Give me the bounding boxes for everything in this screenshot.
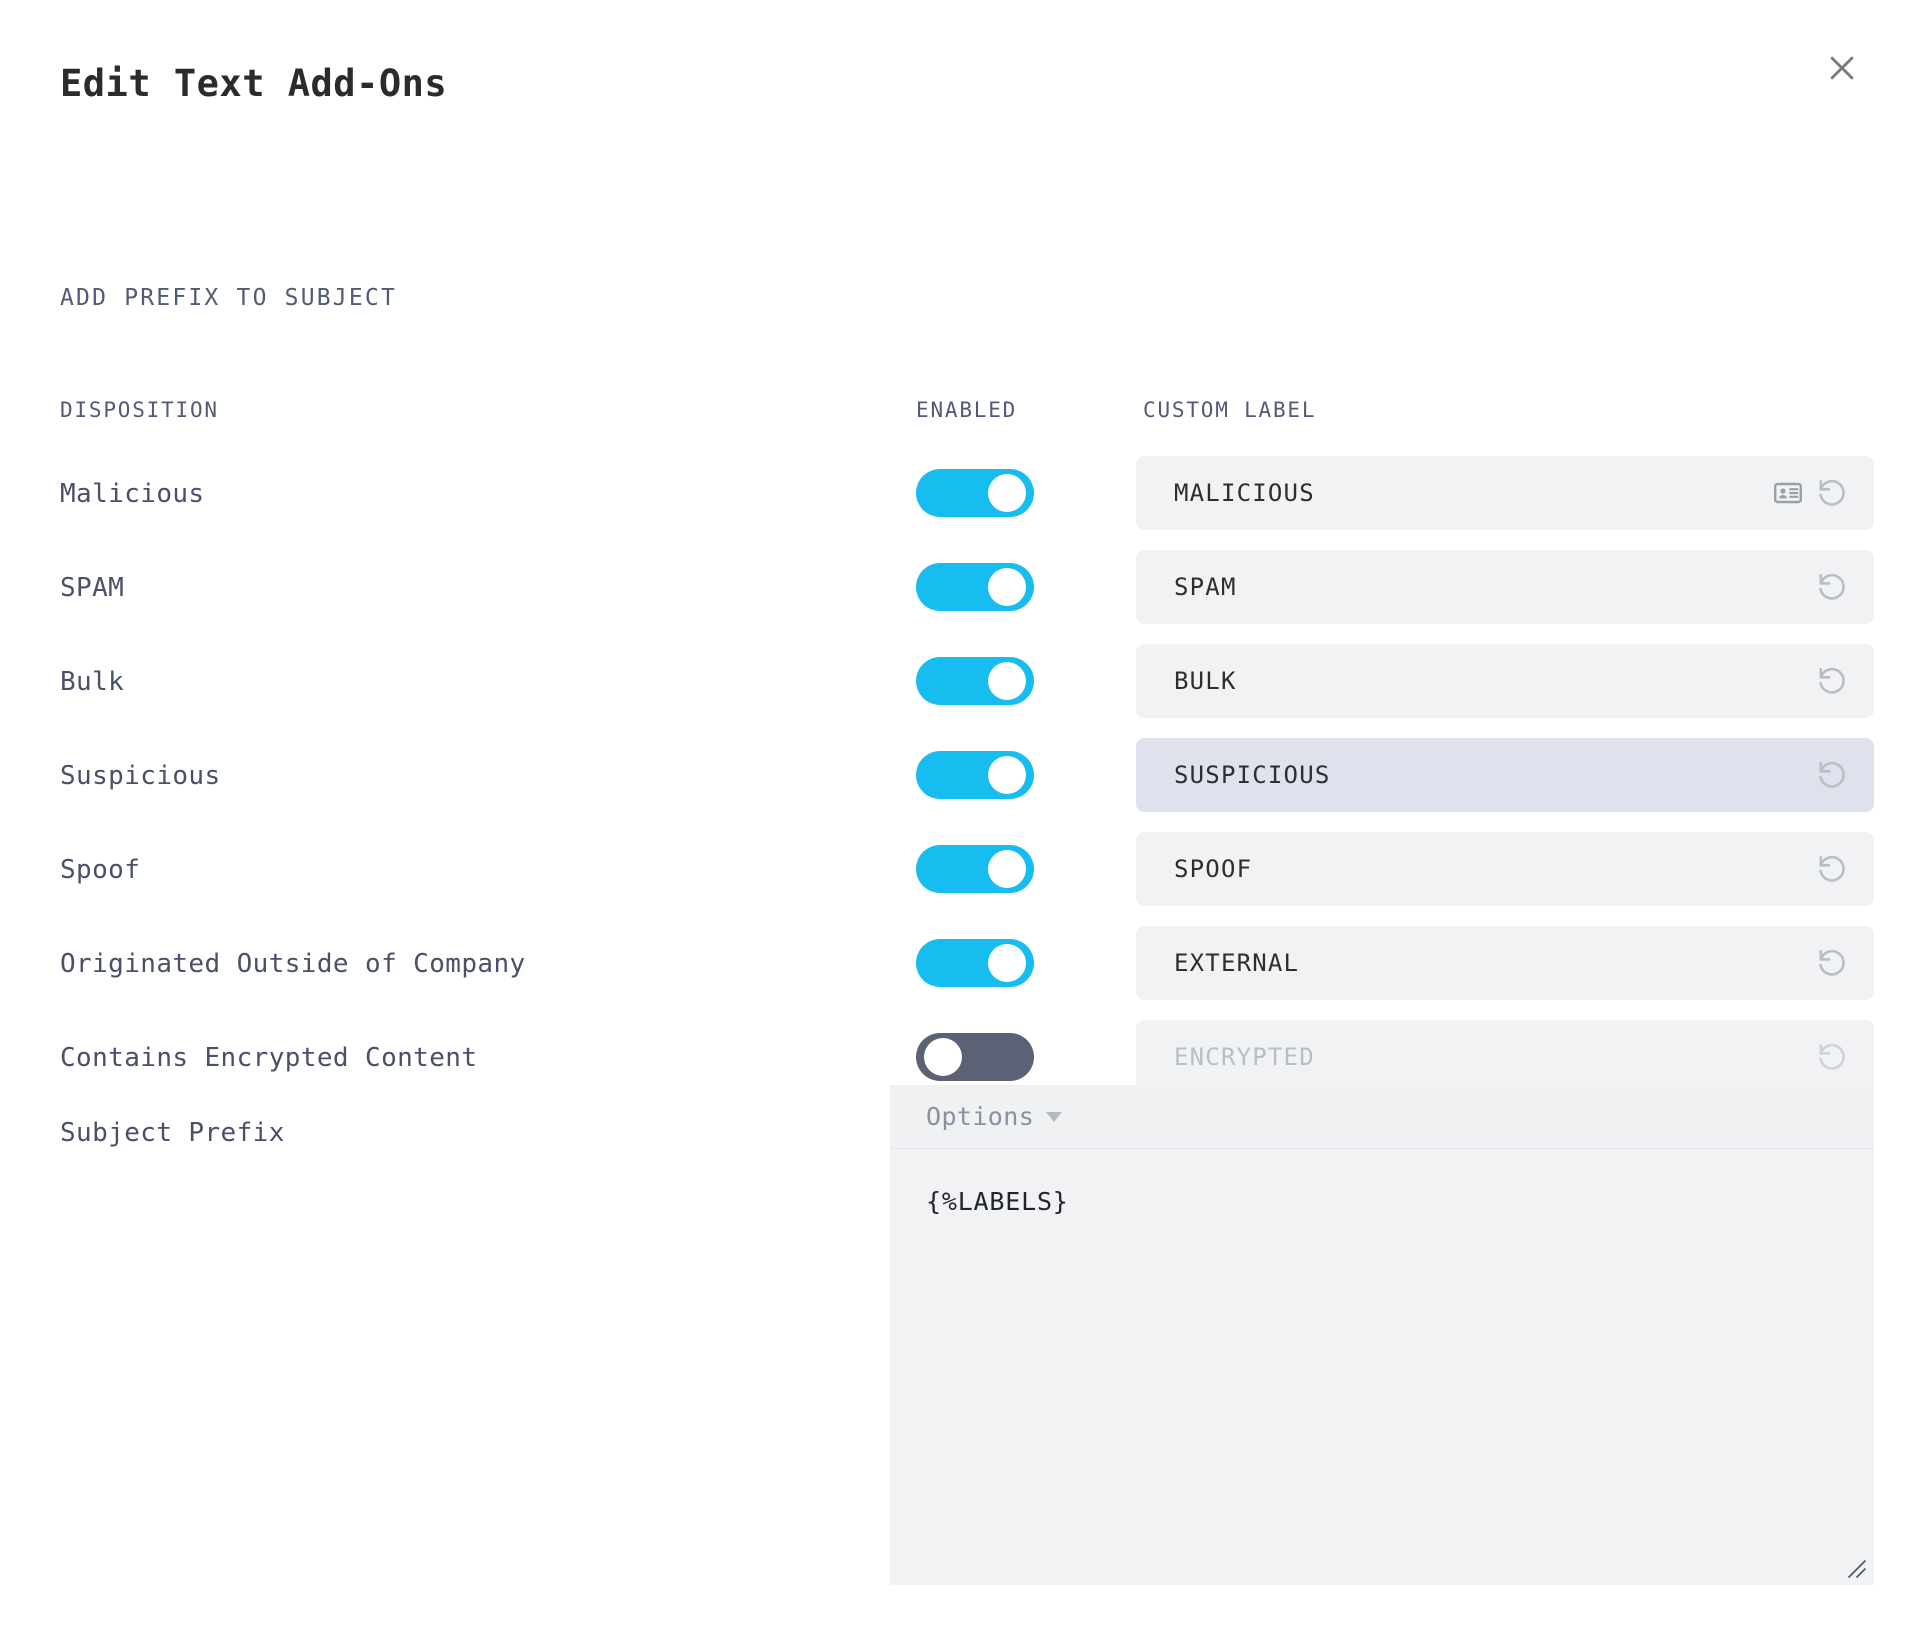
table-row: Originated Outside of CompanyEXTERNAL [0, 925, 1908, 1019]
custom-label-input[interactable]: ENCRYPTED [1136, 1020, 1874, 1094]
custom-label-value: BULK [1174, 667, 1237, 695]
table-row: BulkBULK [0, 643, 1908, 737]
contact-card-icon[interactable] [1774, 481, 1802, 505]
enabled-toggle[interactable] [916, 469, 1034, 517]
enabled-toggle[interactable] [916, 939, 1034, 987]
custom-label-value: SUSPICIOUS [1174, 761, 1331, 789]
column-header-disposition: DISPOSITION [60, 398, 219, 422]
field-icon-group [1774, 476, 1850, 510]
toggle-knob [924, 1038, 962, 1076]
enabled-toggle[interactable] [916, 751, 1034, 799]
enabled-toggle[interactable] [916, 1033, 1034, 1081]
field-icon-group [1816, 664, 1850, 698]
custom-label-input[interactable]: MALICIOUS [1136, 456, 1874, 530]
disposition-label: Spoof [60, 855, 140, 885]
reset-icon[interactable] [1816, 758, 1850, 792]
reset-icon[interactable] [1816, 476, 1850, 510]
custom-label-input[interactable]: BULK [1136, 644, 1874, 718]
toggle-knob [988, 474, 1026, 512]
toggle-knob [988, 568, 1026, 606]
resize-handle-icon[interactable] [1846, 1558, 1868, 1580]
enabled-toggle[interactable] [916, 563, 1034, 611]
field-icon-group [1816, 758, 1850, 792]
dialog-header: Edit Text Add-Ons [0, 0, 1908, 150]
reset-icon[interactable] [1816, 852, 1850, 886]
toggle-knob [988, 756, 1026, 794]
disposition-label: Originated Outside of Company [60, 949, 526, 979]
disposition-label: Contains Encrypted Content [60, 1043, 477, 1073]
field-icon-group [1816, 852, 1850, 886]
subject-prefix-label: Subject Prefix [60, 1118, 285, 1148]
page-title: Edit Text Add-Ons [60, 62, 447, 105]
disposition-label: Malicious [60, 479, 204, 509]
field-icon-group [1816, 1040, 1850, 1074]
reset-icon[interactable] [1816, 1040, 1850, 1074]
field-icon-group [1816, 946, 1850, 980]
column-header-custom-label: CUSTOM LABEL [1143, 398, 1316, 422]
table-row: MaliciousMALICIOUS [0, 455, 1908, 549]
custom-label-value: MALICIOUS [1174, 479, 1315, 507]
close-icon [1825, 51, 1859, 85]
custom-label-value: SPAM [1174, 573, 1237, 601]
options-dropdown-button[interactable]: Options [926, 1102, 1062, 1131]
subject-prefix-editor: Options {%LABELS} [890, 1085, 1874, 1585]
subject-prefix-value: {%LABELS} [926, 1187, 1069, 1216]
disposition-table: MaliciousMALICIOUSSPAMSPAMBulkBULKSuspic… [0, 455, 1908, 1113]
disposition-label: Bulk [60, 667, 124, 697]
table-row: SPAMSPAM [0, 549, 1908, 643]
custom-label-input[interactable]: SPAM [1136, 550, 1874, 624]
close-button[interactable] [1814, 40, 1870, 96]
custom-label-input[interactable]: SUSPICIOUS [1136, 738, 1874, 812]
subject-prefix-textarea[interactable]: {%LABELS} [890, 1149, 1874, 1585]
options-dropdown-label: Options [926, 1102, 1034, 1131]
toggle-knob [988, 850, 1026, 888]
custom-label-value: EXTERNAL [1174, 949, 1299, 977]
field-icon-group [1816, 570, 1850, 604]
reset-icon[interactable] [1816, 664, 1850, 698]
enabled-toggle[interactable] [916, 845, 1034, 893]
section-title: ADD PREFIX TO SUBJECT [60, 285, 397, 311]
enabled-toggle[interactable] [916, 657, 1034, 705]
column-header-enabled: ENABLED [916, 398, 1017, 422]
toggle-knob [988, 944, 1026, 982]
reset-icon[interactable] [1816, 570, 1850, 604]
editor-toolbar: Options [890, 1085, 1874, 1149]
custom-label-input[interactable]: SPOOF [1136, 832, 1874, 906]
toggle-knob [988, 662, 1026, 700]
custom-label-input[interactable]: EXTERNAL [1136, 926, 1874, 1000]
reset-icon[interactable] [1816, 946, 1850, 980]
chevron-down-icon [1046, 1112, 1062, 1122]
table-row: SuspiciousSUSPICIOUS [0, 737, 1908, 831]
disposition-label: Suspicious [60, 761, 221, 791]
table-row: SpoofSPOOF [0, 831, 1908, 925]
custom-label-value: ENCRYPTED [1174, 1043, 1315, 1071]
disposition-label: SPAM [60, 573, 124, 603]
custom-label-value: SPOOF [1174, 855, 1252, 883]
